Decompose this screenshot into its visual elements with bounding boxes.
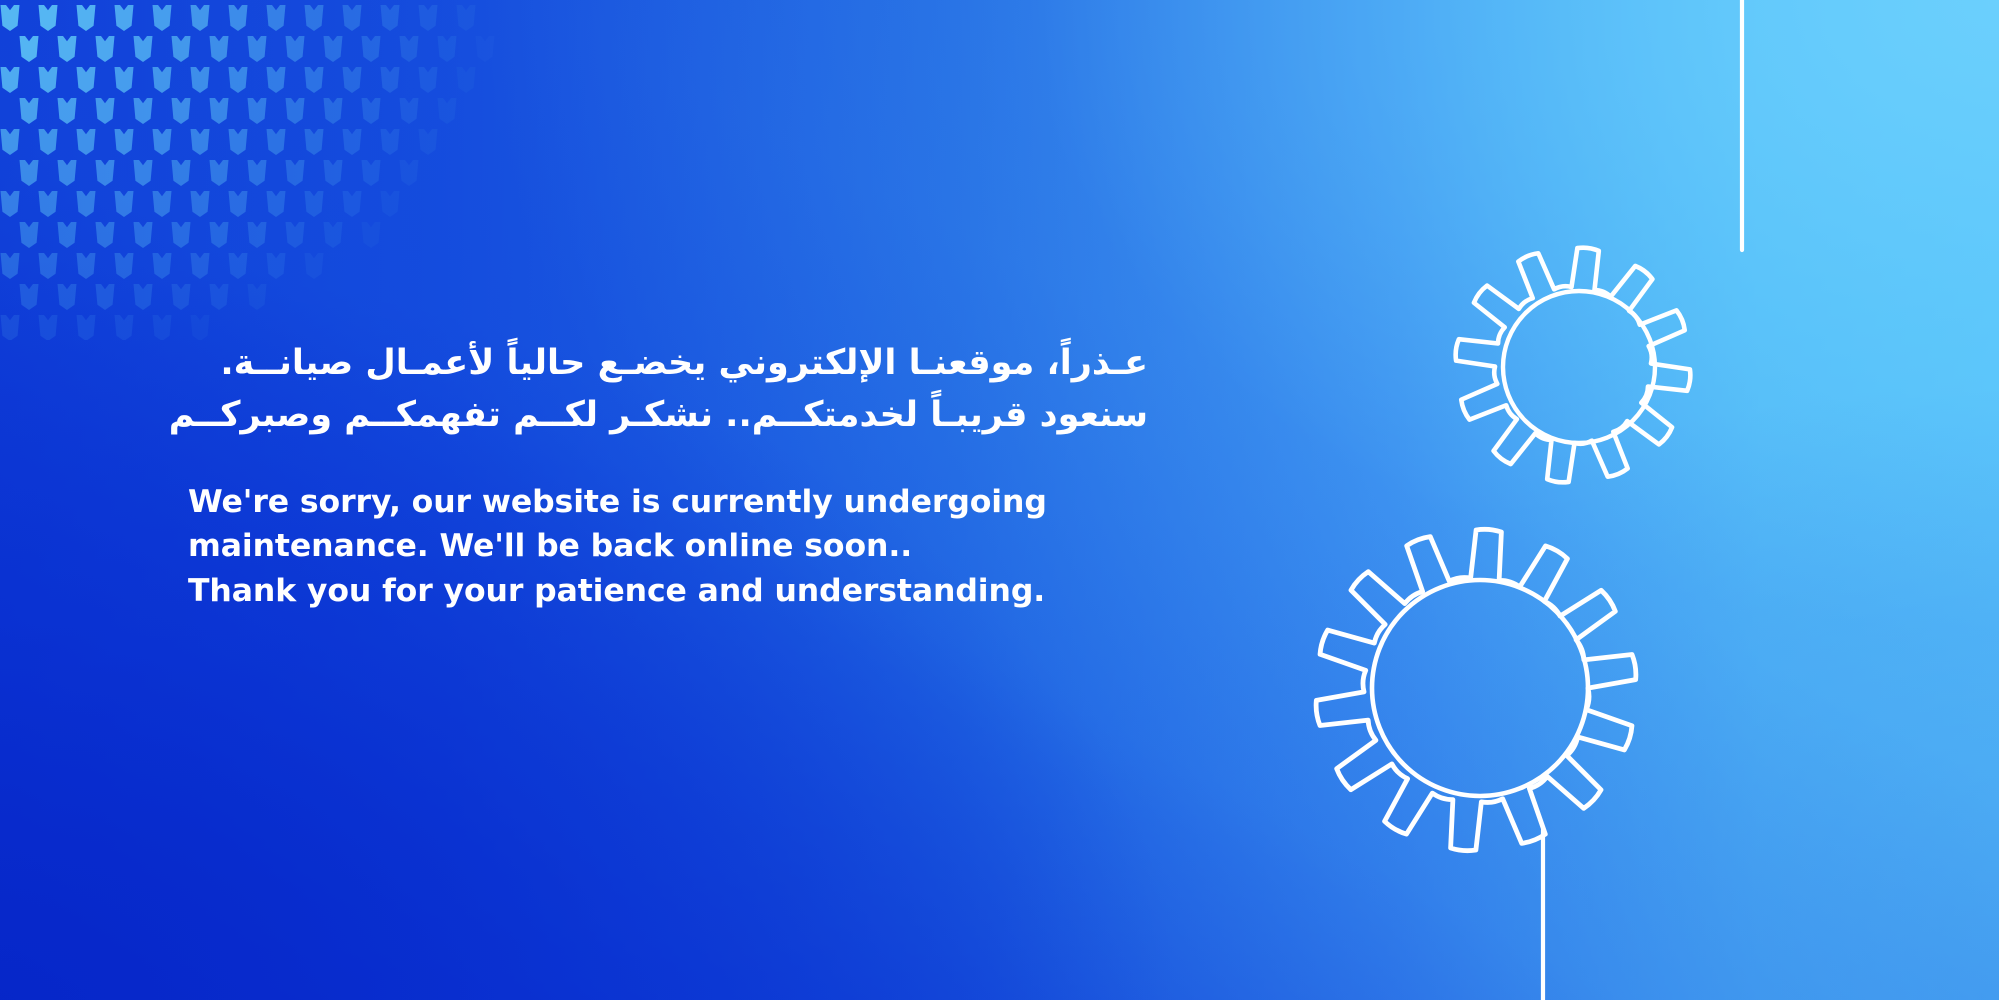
- english-line-2: maintenance. We'll be back online soon..: [188, 524, 1188, 569]
- arabic-line-1: عـذراً، موقعنـا الإلكتروني يخضـع حالياً …: [188, 338, 1148, 390]
- english-message: We're sorry, our website is currently un…: [188, 480, 1188, 614]
- english-line-3: Thank you for your patience and understa…: [188, 569, 1188, 614]
- message-block: عـذراً، موقعنـا الإلكتروني يخضـع حالياً …: [188, 338, 1188, 614]
- arabic-line-2: سنعود قريبـاً لخدمتكــم.. نشكـر لكــم تف…: [188, 390, 1148, 442]
- maintenance-page: عـذراً، موقعنـا الإلكتروني يخضـع حالياً …: [0, 0, 1999, 1000]
- english-line-1: We're sorry, our website is currently un…: [188, 480, 1188, 525]
- arabic-message: عـذراً، موقعنـا الإلكتروني يخضـع حالياً …: [188, 338, 1148, 442]
